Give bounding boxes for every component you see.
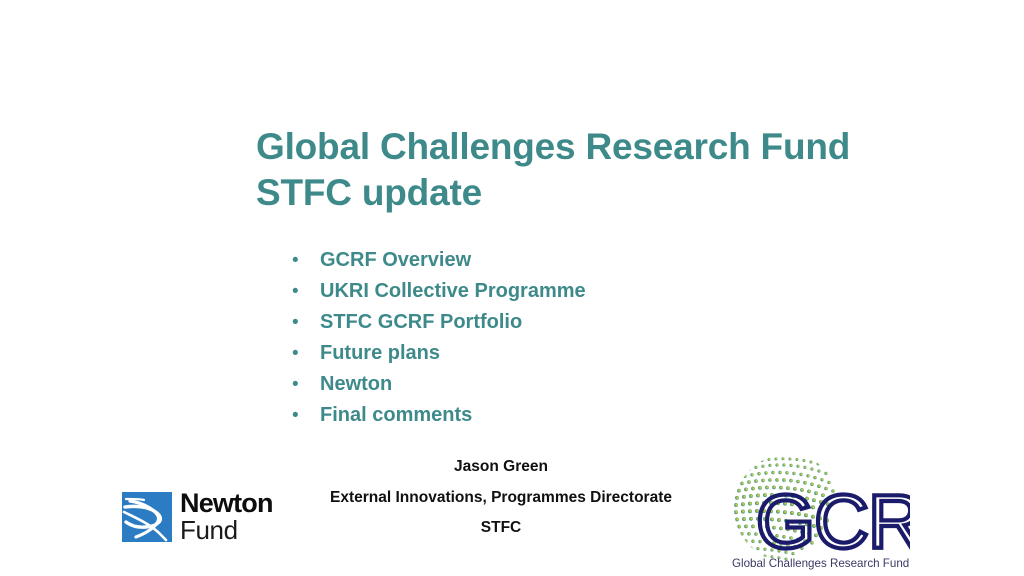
newton-fund-logo: Newton Fund [122, 487, 298, 547]
slide-canvas: Global Challenges Research Fund STFC upd… [0, 0, 1024, 576]
page-title: Global Challenges Research Fund STFC upd… [256, 124, 856, 216]
title-line-1: Global Challenges Research Fund [256, 124, 856, 170]
list-item: • STFC GCRF Portfolio [292, 307, 586, 338]
bullet-dot-icon: • [292, 245, 320, 276]
bullet-dot-icon: • [292, 338, 320, 369]
gcrf-tagline: Global Challenges Research Fund [732, 557, 909, 570]
title-line-2: STFC update [256, 170, 856, 216]
agenda-item-label: GCRF Overview [320, 245, 471, 276]
newton-fund-wordmark: Newton Fund [180, 490, 273, 544]
list-item: • Future plans [292, 338, 586, 369]
newton-fund-mark-icon [122, 492, 172, 542]
list-item: • Newton [292, 369, 586, 400]
presenter-name: Jason Green [268, 452, 734, 483]
agenda-item-label: Future plans [320, 338, 440, 369]
bullet-dot-icon: • [292, 400, 320, 431]
agenda-item-label: Newton [320, 369, 392, 400]
gcrf-logo: GCRF Global Challenges Research Fund [714, 452, 910, 574]
agenda-item-label: Final comments [320, 400, 472, 431]
gcrf-acronym: GCRF [756, 480, 910, 565]
agenda-item-label: STFC GCRF Portfolio [320, 307, 522, 338]
presenter-block: Jason Green External Innovations, Progra… [268, 452, 734, 544]
list-item: • UKRI Collective Programme [292, 276, 586, 307]
list-item: • GCRF Overview [292, 245, 586, 276]
bullet-dot-icon: • [292, 369, 320, 400]
agenda-list: • GCRF Overview • UKRI Collective Progra… [292, 245, 586, 431]
agenda-item-label: UKRI Collective Programme [320, 276, 586, 307]
bullet-dot-icon: • [292, 276, 320, 307]
presenter-role: External Innovations, Programmes Directo… [268, 483, 734, 514]
fund-word: Fund [180, 517, 273, 544]
bullet-dot-icon: • [292, 307, 320, 338]
newton-word: Newton [180, 490, 273, 517]
list-item: • Final comments [292, 400, 586, 431]
presenter-organisation: STFC [268, 513, 734, 544]
